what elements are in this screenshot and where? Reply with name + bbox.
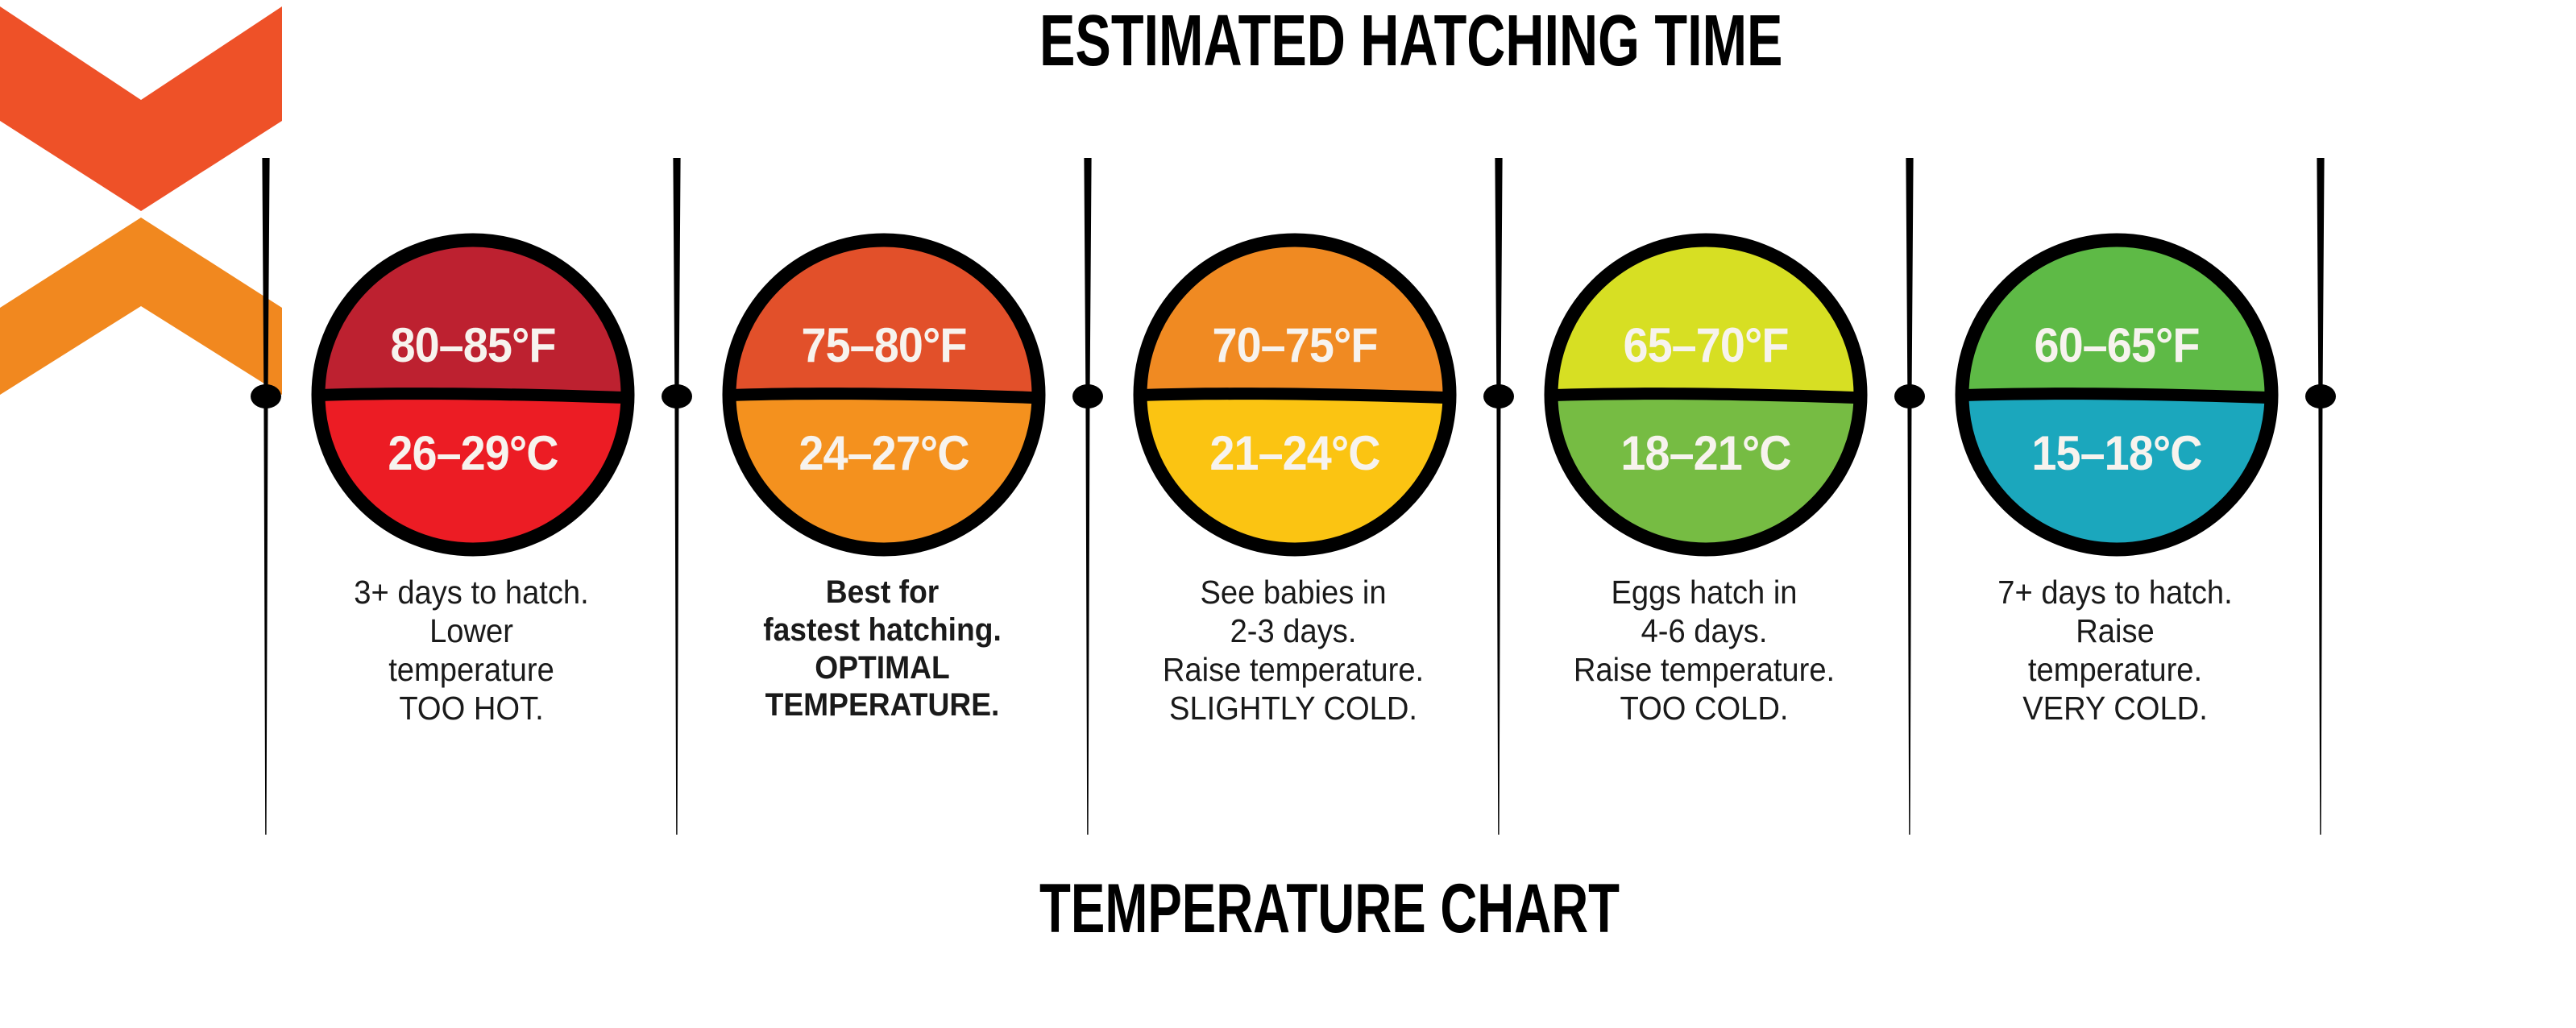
caption-line: Raise: [1933, 612, 2297, 651]
caption-line: 4-6 days.: [1522, 612, 1886, 651]
caption-line: SLIGHTLY COLD.: [1111, 690, 1475, 728]
caption-line: fastest hatching.: [700, 611, 1064, 649]
caption-1: Best for fastest hatching. OPTIMAL TEMPE…: [700, 574, 1064, 724]
temperature-column-2[interactable]: 70–75°F 21–24°C See babies in 2-3 days. …: [1088, 0, 1499, 1028]
caption-4: 7+ days to hatch. Raise temperature. VER…: [1933, 574, 2297, 728]
caption-line: TEMPERATURE.: [700, 686, 1064, 724]
caption-3: Eggs hatch in 4-6 days. Raise temperatur…: [1522, 574, 1886, 728]
dial-graphic: [1128, 228, 1462, 562]
dial-graphic: [1539, 228, 1873, 562]
temperature-dial-2[interactable]: 70–75°F 21–24°C: [1128, 228, 1462, 562]
caption-line: 3+ days to hatch.: [289, 574, 653, 612]
caption-line: Eggs hatch in: [1522, 574, 1886, 612]
caption-line: TOO COLD.: [1522, 690, 1886, 728]
temperature-dial-1[interactable]: 75–80°F 24–27°C: [717, 228, 1051, 562]
caption-line: temperature.: [1933, 651, 2297, 690]
temperature-column-1[interactable]: 75–80°F 24–27°C Best for fastest hatchin…: [677, 0, 1088, 1028]
caption-2: See babies in 2-3 days. Raise temperatur…: [1111, 574, 1475, 728]
caption-line: 2-3 days.: [1111, 612, 1475, 651]
caption-line: 7+ days to hatch.: [1933, 574, 2297, 612]
caption-line: TOO HOT.: [289, 690, 653, 728]
caption-line: Raise temperature.: [1522, 651, 1886, 690]
temperature-column-4[interactable]: 60–65°F 15–18°C 7+ days to hatch. Raise …: [1910, 0, 2321, 1028]
dial-graphic: [306, 228, 640, 562]
temperature-dial-0[interactable]: 80–85°F 26–29°C: [306, 228, 640, 562]
caption-line: Lower: [289, 612, 653, 651]
dial-graphic: [1950, 228, 2284, 562]
caption-line: OPTIMAL: [700, 649, 1064, 687]
dial-graphic: [717, 228, 1051, 562]
temperature-column-0[interactable]: 80–85°F 26–29°C 3+ days to hatch. Lower …: [266, 0, 677, 1028]
caption-line: Best for: [700, 574, 1064, 611]
temperature-chart-infographic: ESTIMATED HATCHING TIME TEMPERATURE CHAR…: [0, 0, 2576, 1028]
caption-line: temperature: [289, 651, 653, 690]
caption-line: VERY COLD.: [1933, 690, 2297, 728]
temperature-column-3[interactable]: 65–70°F 18–21°C Eggs hatch in 4-6 days. …: [1499, 0, 1910, 1028]
temperature-dial-4[interactable]: 60–65°F 15–18°C: [1950, 228, 2284, 562]
caption-line: Raise temperature.: [1111, 651, 1475, 690]
temperature-dial-3[interactable]: 65–70°F 18–21°C: [1539, 228, 1873, 562]
caption-0: 3+ days to hatch. Lower temperature TOO …: [289, 574, 653, 728]
caption-line: See babies in: [1111, 574, 1475, 612]
